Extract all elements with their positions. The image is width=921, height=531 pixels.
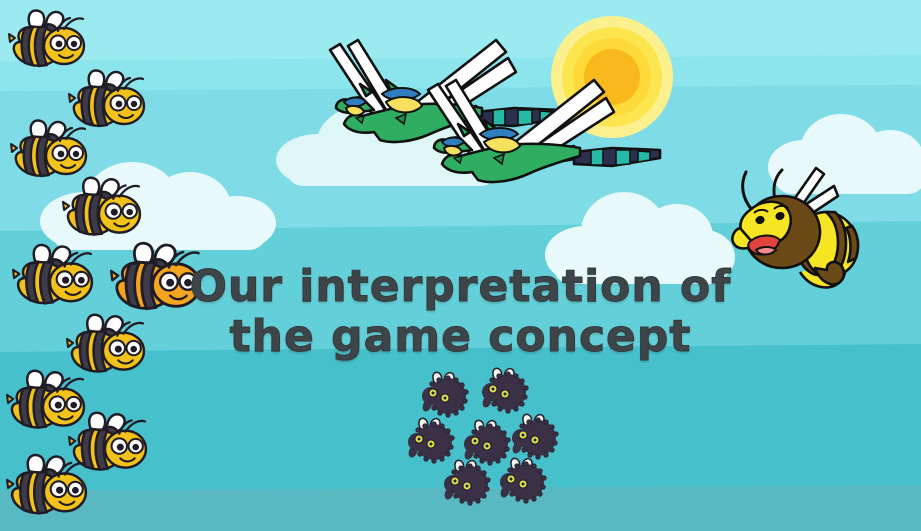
page-title-text: Our interpretation of the game concept: [190, 261, 732, 362]
hornet-2[interactable]: [478, 366, 532, 414]
game-title-scene: Our interpretation of the game concept: [0, 0, 921, 531]
bee-1[interactable]: [8, 8, 86, 72]
bee-3[interactable]: [10, 118, 88, 182]
hornet-6[interactable]: [440, 458, 494, 506]
hornet-3[interactable]: [404, 416, 458, 464]
hornet-1[interactable]: [418, 370, 472, 418]
hornet-5[interactable]: [508, 412, 562, 460]
page-title: Our interpretation of the game concept: [0, 212, 921, 362]
hornet-7[interactable]: [496, 456, 550, 504]
dragonfly-2[interactable]: [398, 62, 666, 187]
bee-10[interactable]: [6, 452, 88, 520]
